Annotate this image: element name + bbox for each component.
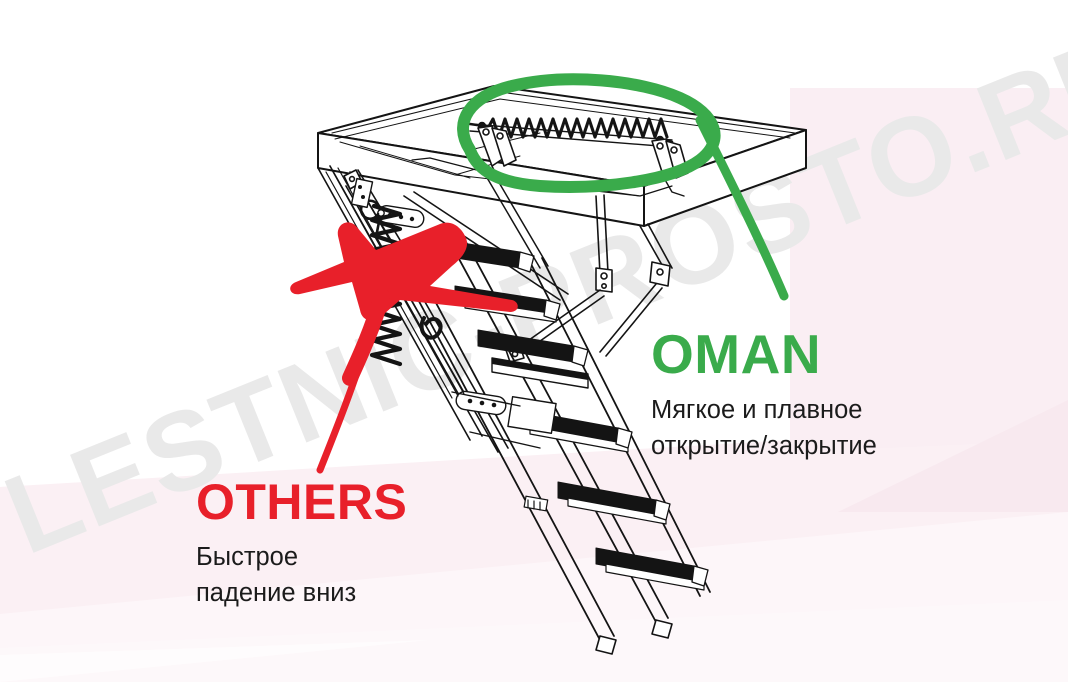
oman-title: OMAN	[651, 327, 877, 382]
infographic-canvas: LESTNIC-PROSTO.RU	[0, 0, 1068, 682]
callout-others: OTHERS Быстрое падение вниз	[196, 477, 407, 611]
oman-subtitle-line-2: открытие/закрытие	[651, 428, 877, 464]
oman-subtitle: Мягкое и плавное открытие/закрытие	[651, 392, 877, 464]
red-annotation-layer	[0, 0, 1068, 682]
others-subtitle-line-1: Быстрое	[196, 539, 407, 575]
callout-oman: OMAN Мягкое и плавное открытие/закрытие	[651, 327, 877, 464]
red-down-arrow	[290, 222, 518, 470]
others-subtitle: Быстрое падение вниз	[196, 539, 407, 611]
oman-subtitle-line-1: Мягкое и плавное	[651, 392, 877, 428]
others-subtitle-line-2: падение вниз	[196, 575, 407, 611]
others-title: OTHERS	[196, 477, 407, 527]
